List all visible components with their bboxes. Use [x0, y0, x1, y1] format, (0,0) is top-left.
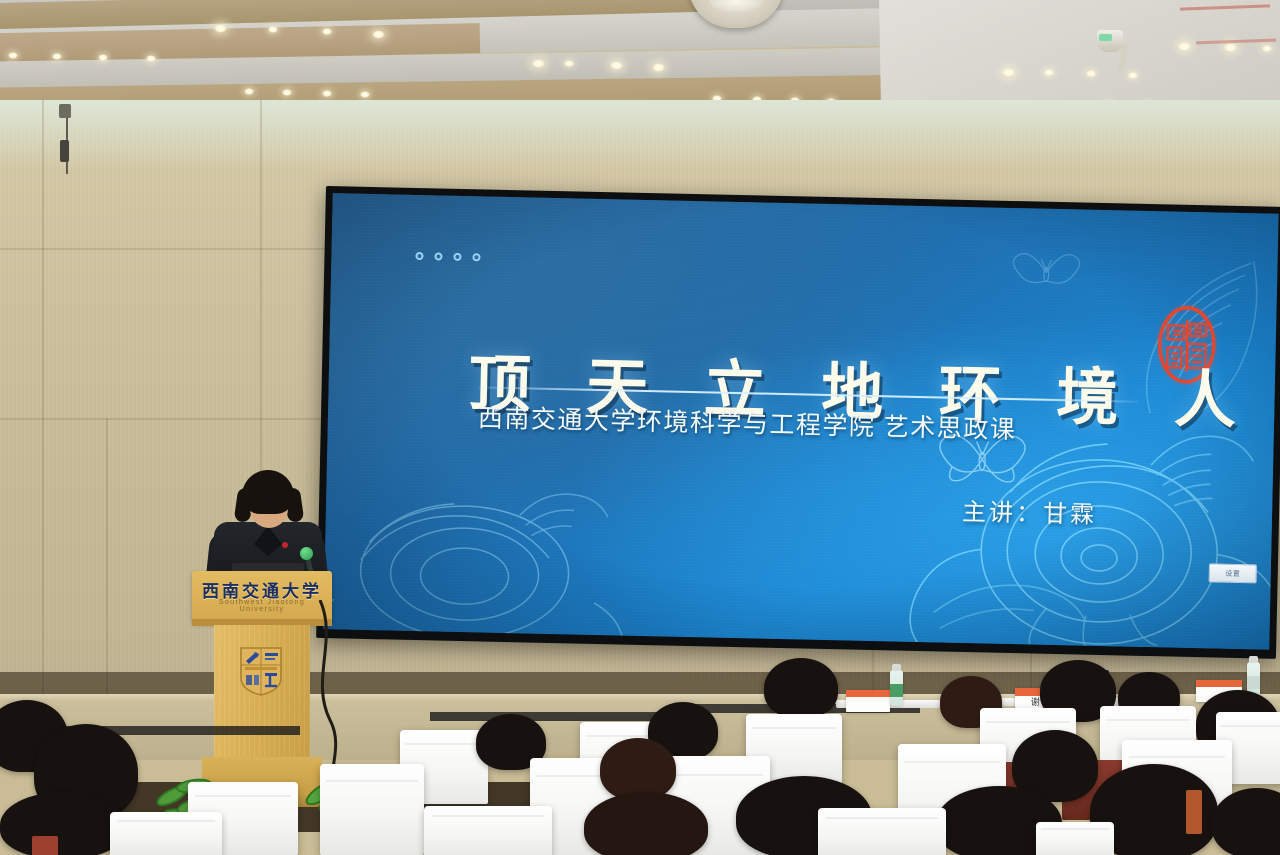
decor-dot-icon — [453, 253, 461, 261]
slide-decor-dots — [415, 252, 480, 261]
bottle-label — [1247, 676, 1260, 689]
audience-seat[interactable] — [818, 808, 946, 855]
ceiling-downlight — [1224, 43, 1237, 52]
ceiling-downlight — [322, 28, 332, 35]
bottle-cap — [892, 664, 901, 671]
placard-accent-bar — [1196, 680, 1242, 687]
ceiling — [0, 0, 1280, 112]
ceiling-downlight — [52, 53, 62, 60]
bottle-label — [890, 684, 903, 697]
seat-rail — [430, 712, 670, 721]
ceiling-downlight — [564, 60, 574, 67]
ceiling-downlight — [1086, 70, 1096, 77]
ceiling-downlight — [98, 54, 108, 61]
audience-seat[interactable] — [424, 806, 552, 855]
seat-frame — [1186, 790, 1202, 834]
screen-osd-tooltip-label: 设置 — [1225, 568, 1240, 578]
name-placard — [846, 690, 890, 712]
presentation-screen[interactable]: 顶 天 立 地 环 境 人 西南交通大学环境科学与工程学院 艺术思政课 主讲：甘… — [316, 186, 1280, 659]
audience-head-foreground — [584, 792, 708, 855]
slide-canvas[interactable]: 顶 天 立 地 环 境 人 西南交通大学环境科学与工程学院 艺术思政课 主讲：甘… — [323, 193, 1278, 650]
seat-frame — [32, 836, 58, 855]
ceiling-downlight — [1044, 69, 1054, 76]
decor-dot-icon — [472, 253, 480, 261]
ceiling-downlight — [8, 52, 18, 59]
ceiling-panel-right — [879, 0, 1280, 112]
ceiling-downlight — [214, 24, 227, 33]
ceiling-downlight — [372, 30, 385, 39]
ceiling-downlight — [360, 91, 370, 98]
ceiling-downlight — [652, 63, 665, 72]
podium-university-name-en: Southwest Jiaotong University — [200, 599, 324, 613]
cable-clip — [59, 104, 71, 118]
ceiling-downlight — [1002, 68, 1015, 77]
ceiling-downlight — [244, 88, 254, 95]
slide-speaker-line: 主讲：甘霖 — [962, 492, 1098, 530]
audience-head — [764, 658, 838, 718]
university-crest-icon — [238, 645, 284, 697]
decor-dot-icon — [415, 252, 423, 260]
ceiling-downlight — [1262, 45, 1272, 52]
placard-accent-bar — [846, 690, 890, 697]
glasses-icon — [250, 497, 288, 506]
ceiling-downlight — [1178, 42, 1191, 51]
screen-osd-tooltip[interactable]: 设置 — [1209, 563, 1257, 583]
wall-top-light-wash — [0, 100, 1280, 170]
ceiling-downlight — [532, 59, 545, 68]
ceiling-camera-icon — [1097, 30, 1123, 52]
ceiling-downlight — [610, 61, 623, 70]
bottle-cap — [1249, 656, 1258, 663]
audience-head-foreground — [0, 792, 126, 855]
ceiling-downlight — [1128, 72, 1138, 79]
audience-seat[interactable] — [320, 764, 424, 855]
audience-seat[interactable] — [1036, 822, 1114, 855]
audience-head — [600, 738, 676, 800]
ceiling-downlight — [282, 89, 292, 96]
decor-dot-icon — [434, 252, 442, 260]
lapel-pin-icon — [282, 542, 288, 548]
ceiling-downlight — [268, 26, 278, 33]
wall-seam — [42, 100, 44, 740]
cable-clip — [60, 140, 69, 162]
water-bottle — [890, 670, 903, 706]
ceiling-downlight — [146, 55, 156, 62]
audience-seat[interactable] — [110, 812, 222, 855]
ceiling-downlight — [322, 90, 332, 97]
microphone-icon — [300, 547, 313, 560]
lecture-hall-photo: 顶 天 立 地 环 境 人 西南交通大学环境科学与工程学院 艺术思政课 主讲：甘… — [0, 0, 1280, 855]
